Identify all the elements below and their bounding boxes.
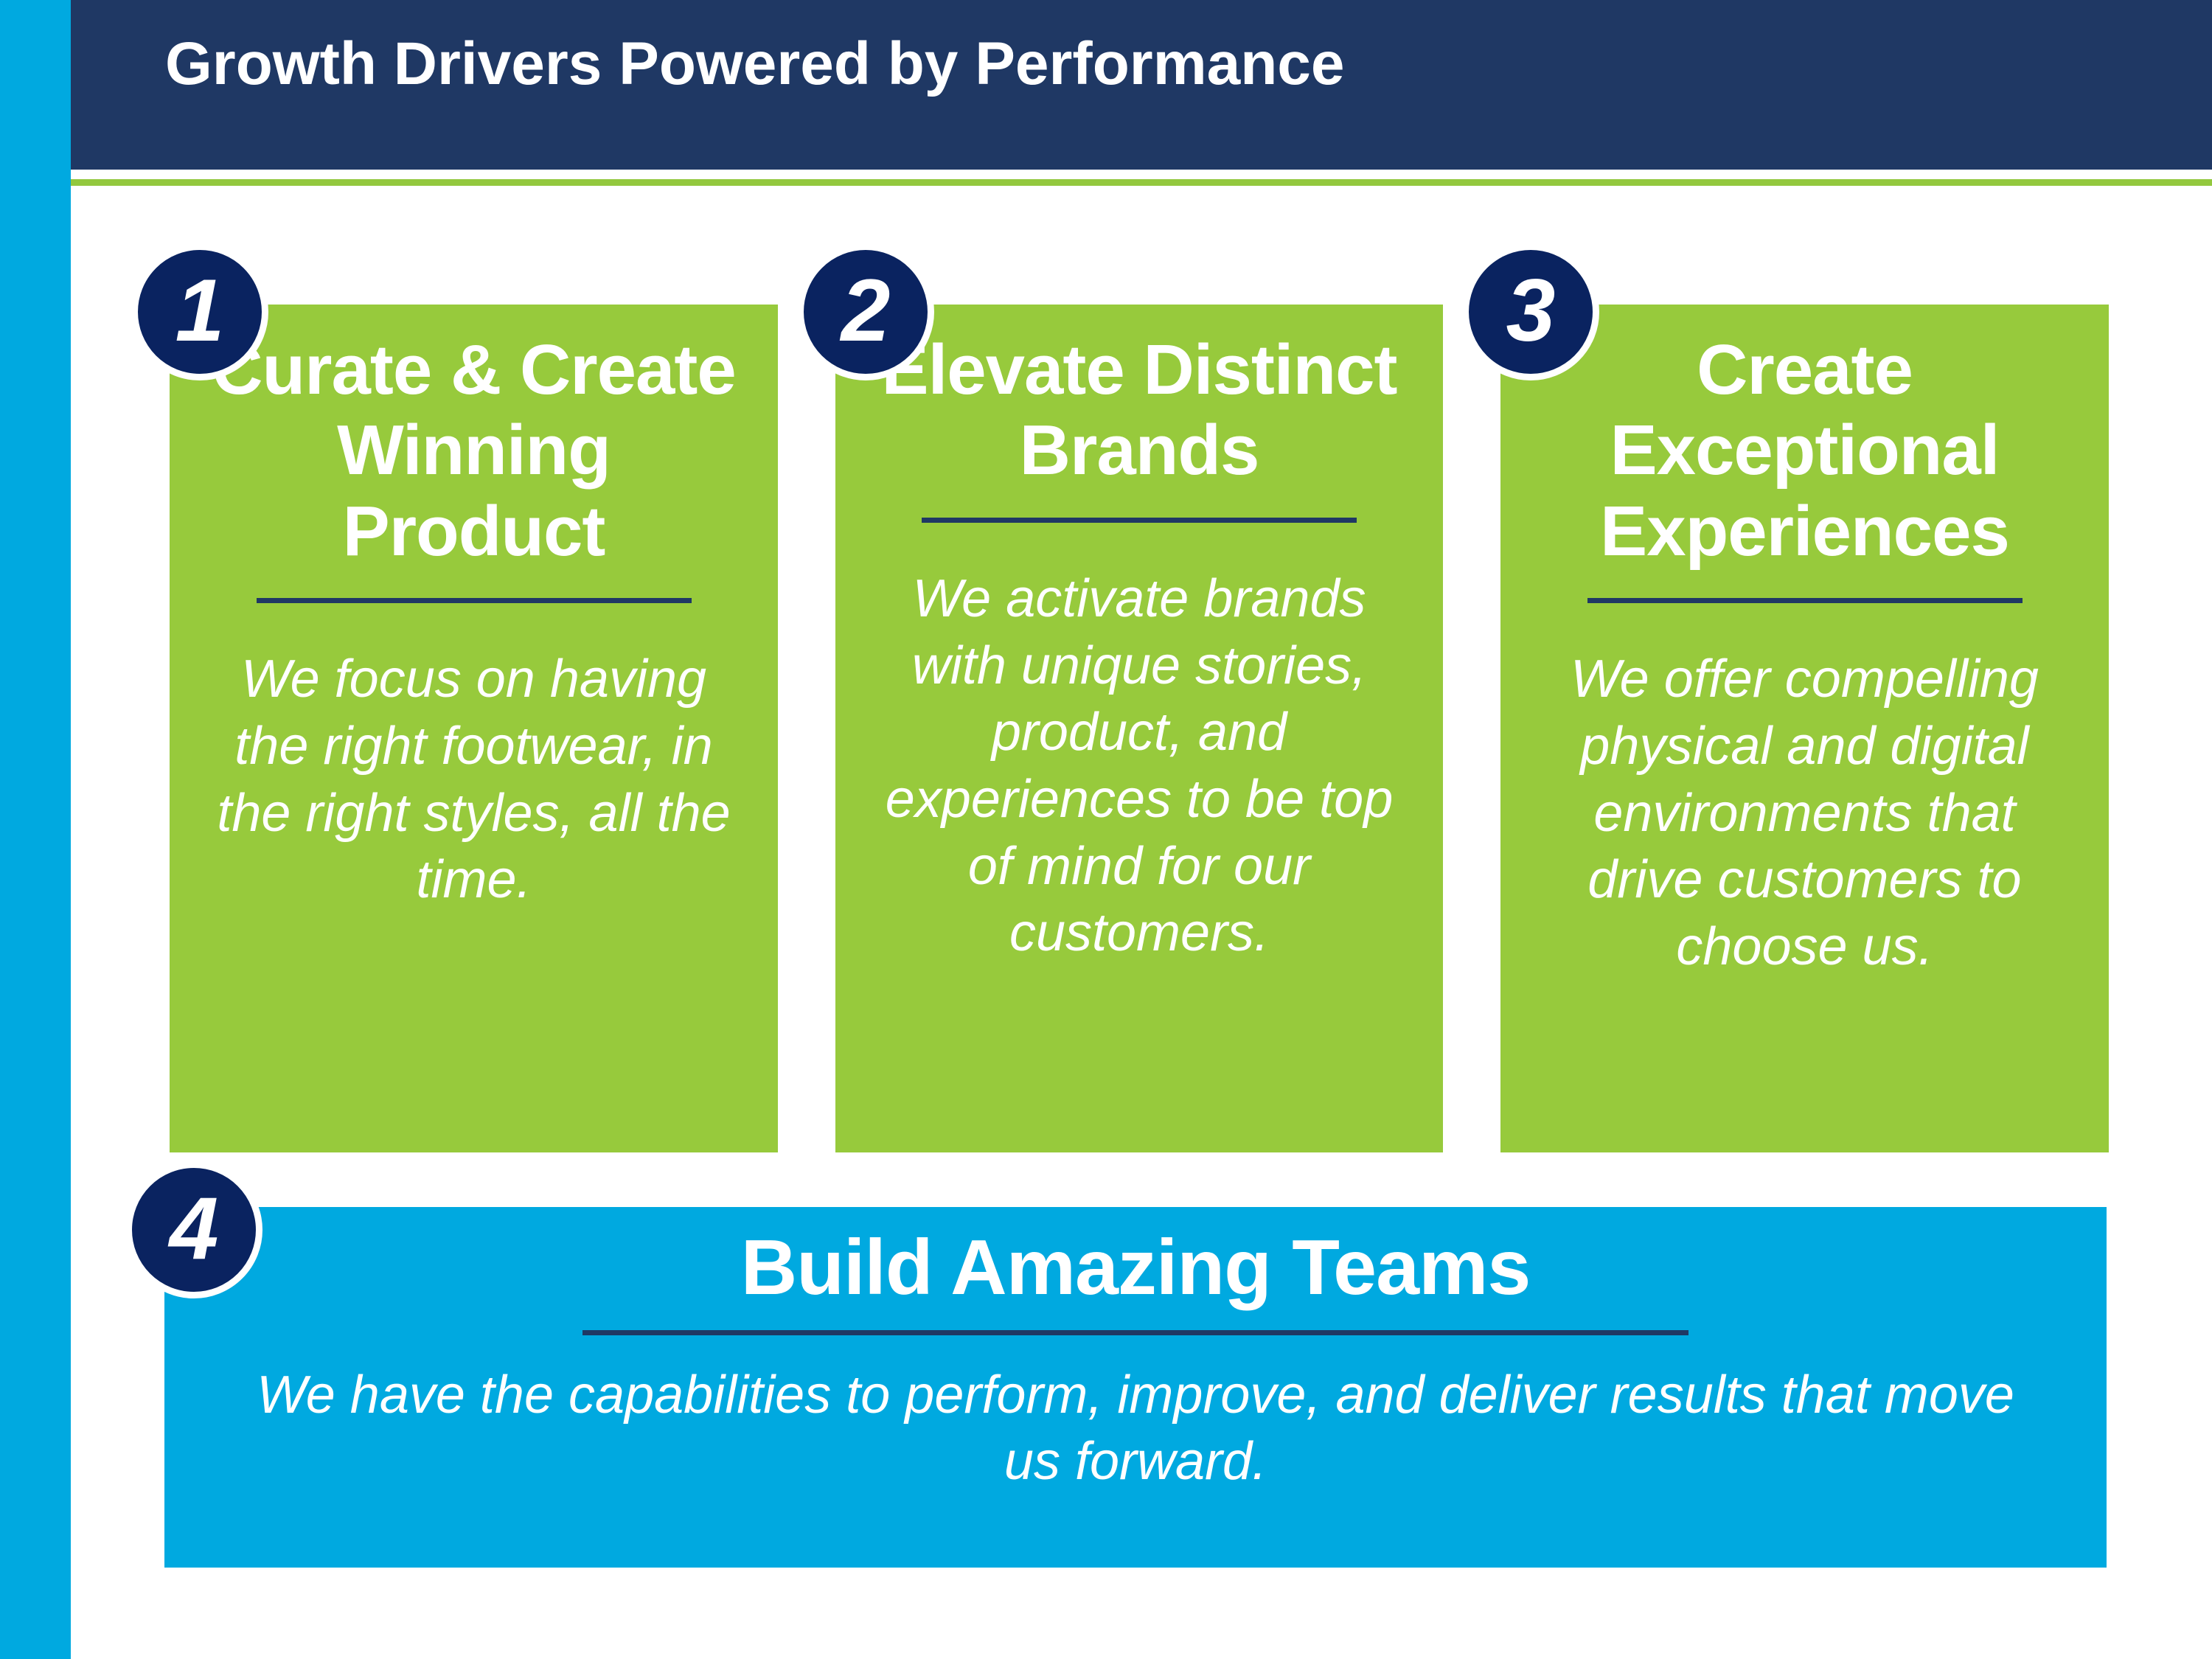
driver-card-2-title: Elevate Distinct Brands <box>868 330 1411 491</box>
driver-card-4-body: We have the capabilities to perform, imp… <box>251 1362 2020 1495</box>
slide-header: Growth Drivers Powered by Performance <box>71 0 2212 170</box>
driver-card-4[interactable]: Build Amazing Teams We have the capabili… <box>164 1207 2107 1568</box>
driver-card-4-title: Build Amazing Teams <box>741 1225 1531 1311</box>
driver-card-1-divider <box>257 598 692 603</box>
driver-badge-2: 2 <box>797 243 934 380</box>
driver-card-3[interactable]: Create Exceptional Experiences We offer … <box>1500 305 2109 1152</box>
driver-card-3-title: Create Exceptional Experiences <box>1533 330 2076 571</box>
header-accent-rule <box>71 179 2212 186</box>
page-title: Growth Drivers Powered by Performance <box>165 34 2082 94</box>
driver-card-1-title: Curate & Create Winning Product <box>202 330 745 571</box>
slide-canvas: Growth Drivers Powered by Performance Cu… <box>0 0 2212 1659</box>
left-accent-bar <box>0 0 71 1659</box>
driver-badge-3: 3 <box>1462 243 1599 380</box>
driver-card-2-content: Elevate Distinct Brands We activate bran… <box>835 305 1443 1152</box>
driver-badge-4-number: 4 <box>170 1184 219 1273</box>
driver-card-2-body: We activate brands with unique stories, … <box>868 566 1411 967</box>
driver-card-3-content: Create Exceptional Experiences We offer … <box>1500 305 2109 1152</box>
driver-card-2-divider <box>922 518 1357 523</box>
driver-card-1-body: We focus on having the right footwear, i… <box>202 646 745 914</box>
driver-card-3-body: We offer compelling physical and digital… <box>1533 646 2076 981</box>
driver-badge-4: 4 <box>125 1161 262 1298</box>
driver-card-4-divider <box>582 1330 1688 1335</box>
driver-card-2[interactable]: Elevate Distinct Brands We activate bran… <box>835 305 1443 1152</box>
driver-badge-1: 1 <box>131 243 268 380</box>
driver-badge-1-number: 1 <box>175 266 225 355</box>
driver-card-1[interactable]: Curate & Create Winning Product We focus… <box>170 305 778 1152</box>
driver-badge-3-number: 3 <box>1506 266 1556 355</box>
driver-card-1-content: Curate & Create Winning Product We focus… <box>170 305 778 1152</box>
driver-card-3-divider <box>1587 598 2023 603</box>
driver-badge-2-number: 2 <box>841 266 891 355</box>
